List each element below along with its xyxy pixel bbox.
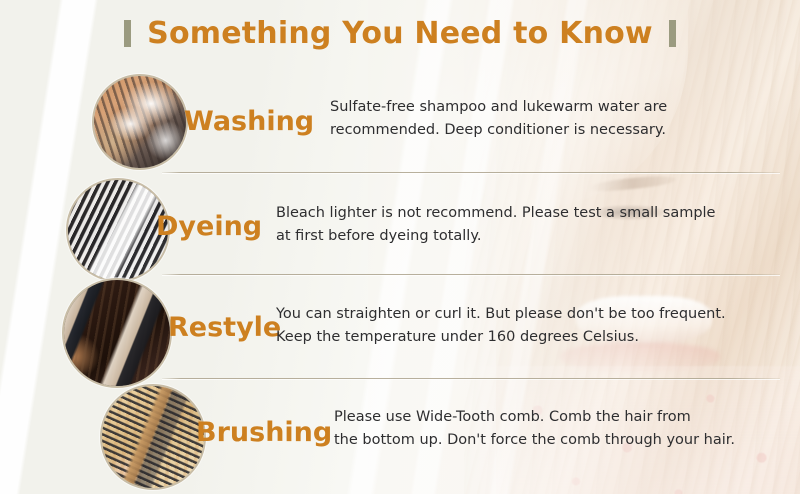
item-description-dyeing: Bleach lighter is not recommend. Please …: [276, 202, 776, 249]
divider-2: [162, 274, 780, 275]
page-title-row: Something You Need to Know: [0, 16, 800, 51]
thumbnail-brushing: [100, 384, 206, 490]
item-description-washing: Sulfate-free shampoo and lukewarm water …: [330, 96, 780, 143]
hair-dyeing-brush-photo: [68, 180, 168, 280]
list-item-restyle: Restyle You can straighten or curl it. B…: [0, 280, 800, 376]
care-instructions-infographic: Something You Need to Know Washing Sulfa…: [0, 0, 800, 494]
hair-washing-shampoo-photo: [94, 76, 186, 168]
divider-3: [162, 378, 780, 379]
accent-bar-left-icon: [124, 20, 131, 47]
infographic-content: Something You Need to Know Washing Sulfa…: [0, 0, 800, 494]
item-label-restyle: Restyle: [168, 314, 281, 341]
item-description-restyle: You can straighten or curl it. But pleas…: [276, 303, 786, 350]
item-label-washing: Washing: [184, 108, 314, 135]
thumbnail-washing: [92, 74, 188, 170]
list-item-brushing: Brushing Please use Wide-Tooth comb. Com…: [0, 384, 800, 480]
item-label-brushing: Brushing: [196, 419, 332, 446]
hair-brushing-comb-photo: [102, 386, 204, 488]
list-item-dyeing: Dyeing Bleach lighter is not recommend. …: [0, 178, 800, 274]
item-description-brushing: Please use Wide-Tooth comb. Comb the hai…: [334, 406, 794, 453]
accent-bar-right-icon: [669, 20, 676, 47]
item-label-dyeing: Dyeing: [156, 213, 262, 240]
hair-flat-iron-photo: [64, 280, 170, 386]
thumbnail-dyeing: [66, 178, 170, 282]
page-title: Something You Need to Know: [147, 16, 653, 51]
divider-1: [162, 172, 780, 173]
thumbnail-restyle: [62, 278, 172, 388]
list-item-washing: Washing Sulfate-free shampoo and lukewar…: [0, 72, 800, 168]
